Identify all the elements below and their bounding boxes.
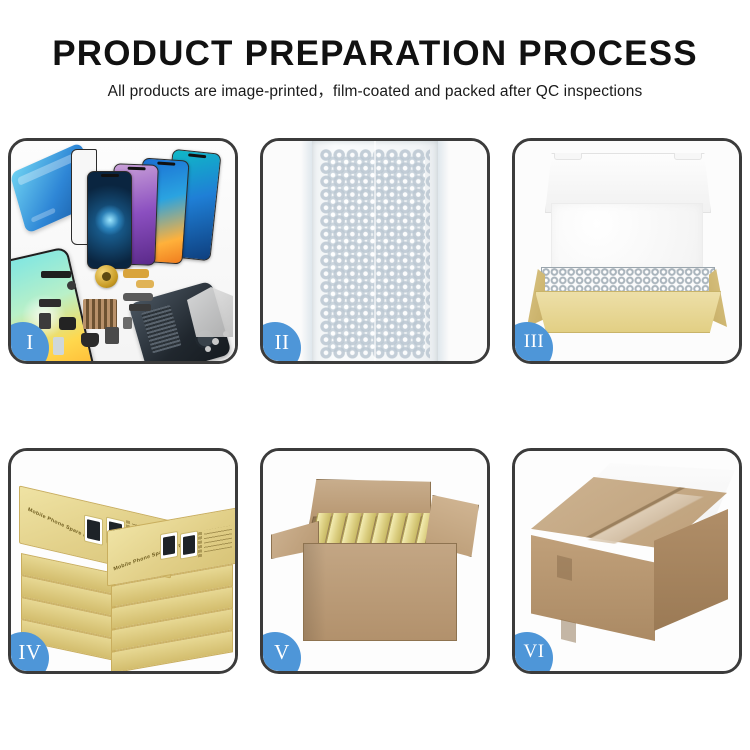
step-numeral-5: V — [274, 640, 290, 665]
bubble-wrap-illustration — [263, 141, 487, 361]
process-step-1: I — [8, 138, 238, 364]
page-subtitle: All products are image-printed，film-coat… — [0, 81, 750, 103]
small-part-4 — [81, 333, 99, 347]
connector-chip-part — [83, 299, 117, 329]
small-part-2 — [39, 313, 51, 329]
printed-box-phone-image-front-1 — [160, 531, 178, 560]
earpiece-part — [41, 271, 71, 278]
battery-part — [105, 327, 119, 344]
printed-box-phone-image-back-1 — [84, 514, 103, 545]
process-step-3: III — [512, 138, 742, 364]
pouch-seam — [374, 141, 376, 361]
step-numeral-4: IV — [18, 640, 41, 665]
phone-screen-fan — [71, 149, 235, 269]
process-step-2: II — [260, 138, 490, 364]
flex-cable-1 — [123, 269, 149, 278]
camera-part — [67, 281, 76, 290]
phone-screen-2 — [87, 171, 132, 269]
carton-loading-illustration — [263, 451, 487, 671]
speaker-coil-part — [95, 265, 118, 288]
infographic-page: PRODUCT PREPARATION PROCESS All products… — [0, 0, 750, 750]
carton-corner-tab-bottom — [561, 619, 576, 643]
parts-assortment-illustration — [11, 141, 235, 361]
screw-1 — [212, 338, 219, 345]
process-step-grid: I II — [8, 138, 742, 683]
screw-3 — [205, 346, 211, 352]
step-numeral-2: II — [275, 330, 290, 355]
process-step-4: Mobile Phone Spare Parts Mobile Phone Sp… — [8, 448, 238, 674]
inner-box-illustration — [515, 141, 739, 361]
sealed-carton-front — [531, 535, 655, 641]
small-part-3 — [59, 317, 76, 330]
retail-box-stack-illustration: Mobile Phone Spare Parts Mobile Phone Sp… — [11, 451, 235, 671]
step-numeral-6: VI — [523, 641, 544, 663]
page-title: PRODUCT PREPARATION PROCESS — [0, 34, 750, 74]
small-part-6 — [53, 337, 64, 355]
process-step-6: VI — [512, 448, 742, 674]
flex-cable-4 — [129, 304, 151, 311]
bubble-wrapped-contents — [541, 267, 715, 295]
printed-box-checklist-front — [204, 525, 232, 552]
step-numeral-1: I — [26, 330, 34, 355]
small-part-7 — [123, 317, 132, 329]
printed-box-phone-image-front-2 — [180, 530, 198, 559]
box-stack: Mobile Phone Spare Parts Mobile Phone Sp… — [15, 467, 235, 667]
process-step-5: V — [260, 448, 490, 674]
header: PRODUCT PREPARATION PROCESS All products… — [0, 0, 750, 103]
flex-cable-2 — [136, 280, 154, 288]
small-part-1 — [39, 299, 61, 307]
step-numeral-3: III — [524, 331, 544, 353]
foam-sheet — [551, 203, 703, 271]
carton-body — [303, 543, 457, 641]
sealed-carton-illustration — [515, 451, 739, 671]
flex-cable-3 — [123, 293, 153, 301]
screw-2 — [223, 331, 229, 337]
carton-corner-tab-top — [557, 555, 572, 581]
bubble-pouch — [312, 141, 438, 361]
box-front-panel — [535, 291, 721, 333]
